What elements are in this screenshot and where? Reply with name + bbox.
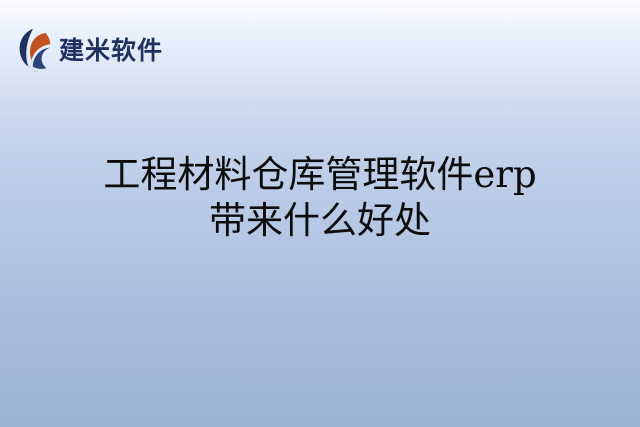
brand-logo[interactable]: 建米软件 (18, 25, 163, 75)
page-title-line-2: 带来什么好处 (24, 198, 616, 244)
page-title-line-1: 工程材料仓库管理软件erp (24, 152, 616, 198)
jianmi-logo-mark-icon (18, 28, 52, 72)
page-title: 工程材料仓库管理软件erp 带来什么好处 (0, 152, 640, 244)
article-cover-banner: 建米软件 工程材料仓库管理软件erp 带来什么好处 (0, 0, 640, 427)
brand-wordmark: 建米软件 (59, 38, 163, 63)
